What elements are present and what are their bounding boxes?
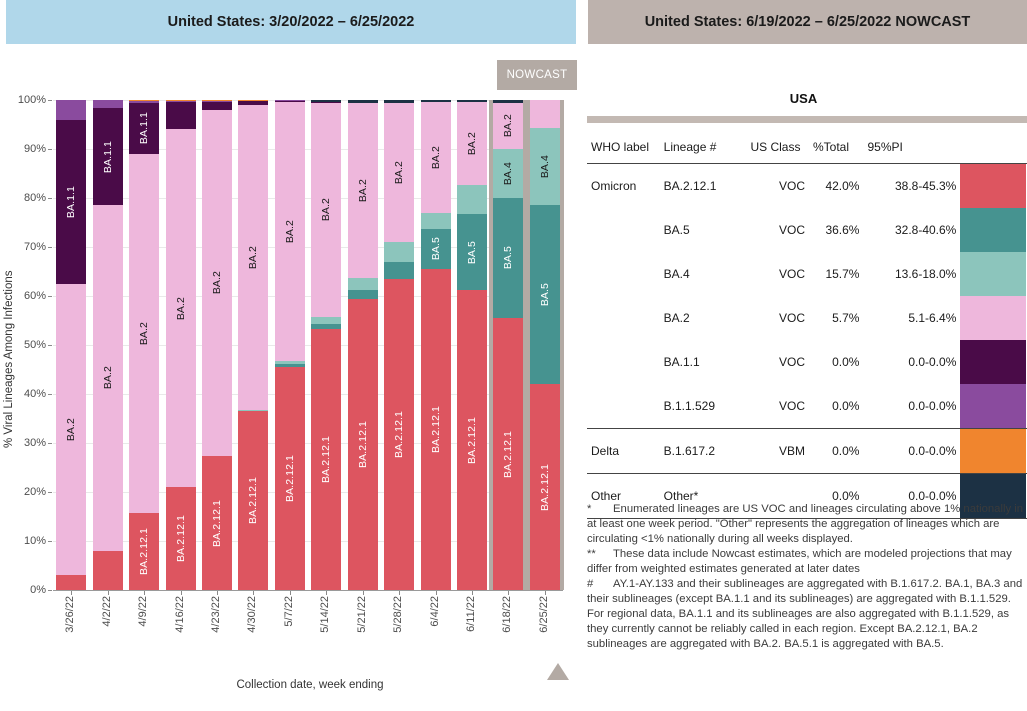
y-axis-tick-mark xyxy=(48,590,52,591)
bar-segment[interactable] xyxy=(311,317,341,324)
bar-segment[interactable]: BA.2.12.1 xyxy=(275,367,305,590)
cell-percent-total: 15.7% xyxy=(809,252,863,296)
bar-segment[interactable]: BA.2 xyxy=(93,205,123,550)
y-axis-tick-mark xyxy=(48,394,52,395)
stacked-bar-chart: % Viral Lineages Among Infections NOWCAS… xyxy=(0,44,578,711)
bar-segment[interactable] xyxy=(384,242,414,263)
footnote-text: Enumerated lineages are US VOC and linea… xyxy=(587,503,1023,545)
bar-segment[interactable] xyxy=(238,101,268,105)
cell-us-class: VOC xyxy=(746,164,809,209)
bar-segment[interactable]: BA.2 xyxy=(56,284,86,576)
bar-segment[interactable] xyxy=(93,100,123,108)
bar-segment[interactable] xyxy=(202,100,232,101)
x-axis-tick: 4/2/22 xyxy=(101,596,113,627)
y-axis-tick: 40% xyxy=(24,388,46,400)
bar-segment[interactable] xyxy=(348,100,378,103)
bar-segment[interactable] xyxy=(457,100,487,102)
bar-segment[interactable] xyxy=(166,101,196,102)
bar-segment[interactable]: BA.2 xyxy=(129,154,159,513)
column-header-pi: 95%PI xyxy=(863,134,960,164)
y-axis-tick: 90% xyxy=(24,143,46,155)
bar-segment-label: BA.5 xyxy=(502,246,514,269)
y-axis-tick-mark xyxy=(48,443,52,444)
bar-segment-label: BA.2 xyxy=(102,366,114,389)
x-axis-tick-mark xyxy=(326,591,327,595)
stacked-bar[interactable]: BA.2.12.1BA.5BA.2 xyxy=(457,100,487,590)
bar-segment[interactable]: BA.2.12.1 xyxy=(530,384,560,590)
bar-segment[interactable]: BA.5 xyxy=(457,214,487,290)
cell-us-class: VOC xyxy=(746,340,809,384)
stacked-bar[interactable]: BA.2.12.1BA.5BA.2 xyxy=(421,100,451,590)
bar-segment[interactable] xyxy=(384,262,414,279)
cell-lineage: BA.1.1 xyxy=(660,340,747,384)
x-axis-tick-mark xyxy=(508,591,509,595)
table-row[interactable]: BA.1.1VOC0.0%0.0-0.0% xyxy=(587,340,1027,384)
bar-segment[interactable] xyxy=(129,101,159,103)
x-axis-tick: 5/7/22 xyxy=(283,596,295,627)
x-axis-tick: 6/11/22 xyxy=(465,596,477,632)
cell-95pi: 38.8-45.3% xyxy=(863,164,960,209)
x-axis-tick-mark xyxy=(253,591,254,595)
x-axis-tick-mark xyxy=(144,591,145,595)
bar-segment[interactable] xyxy=(56,100,86,120)
right-panel-header: United States: 6/19/2022 – 6/25/2022 NOW… xyxy=(588,0,1027,44)
bar-segment[interactable]: BA.2 xyxy=(457,102,487,184)
x-axis-label: Collection date, week ending xyxy=(140,679,480,691)
bar-segment[interactable]: BA.2 xyxy=(238,105,268,410)
bar-segment[interactable]: BA.2 xyxy=(421,102,451,213)
cell-who-label xyxy=(587,340,660,384)
cell-percent-total: 42.0% xyxy=(809,164,863,209)
y-axis-tick: 10% xyxy=(24,535,46,547)
bar-segment-label: BA.2 xyxy=(65,418,77,441)
bar-segment[interactable] xyxy=(421,100,451,102)
stacked-bar[interactable]: BA.2.12.1BA.2BA.1.1 xyxy=(129,100,159,590)
bar-segment[interactable]: BA.5 xyxy=(530,205,560,384)
column-header-usclass: US Class xyxy=(746,134,809,164)
nowcast-table: WHO label Lineage # US Class %Total 95%P… xyxy=(587,134,1027,519)
bar-segment-label: BA.2.12.1 xyxy=(430,406,442,453)
y-axis-tick-mark xyxy=(48,541,52,542)
bar-segment-label: BA.2 xyxy=(502,114,514,137)
bar-segment-label: BA.4 xyxy=(539,155,551,178)
bar-segment-label: BA.2.12.1 xyxy=(138,528,150,575)
stacked-bar[interactable]: BA.2.12.1BA.2 xyxy=(166,100,196,590)
stacked-bar[interactable]: BA.2.12.1BA.2 xyxy=(384,100,414,590)
stacked-bar[interactable]: BA.2.12.1BA.2 xyxy=(311,100,341,590)
nowcast-tag: NOWCAST xyxy=(497,60,577,90)
x-axis-line xyxy=(53,590,563,591)
bar-segment[interactable]: BA.2.12.1 xyxy=(457,290,487,590)
nowcast-table-panel: USA WHO label Lineage # US Class %Total … xyxy=(580,44,1027,711)
bar-segment[interactable] xyxy=(166,102,196,129)
footnote: #AY.1-AY.133 and their sublineages are a… xyxy=(587,577,1027,652)
bar-segment[interactable] xyxy=(129,100,159,101)
bar-segment[interactable] xyxy=(238,410,268,411)
cell-95pi: 13.6-18.0% xyxy=(863,252,960,296)
x-axis-tick-mark xyxy=(399,591,400,595)
table-row[interactable]: OmicronBA.2.12.1VOC42.0%38.8-45.3% xyxy=(587,164,1027,209)
stacked-bar[interactable]: BA.2.12.1BA.2 xyxy=(202,100,232,590)
bar-segment[interactable]: BA.2 xyxy=(275,102,305,361)
bar-segment[interactable]: BA.2.12.1 xyxy=(166,487,196,590)
x-axis-tick-mark xyxy=(363,591,364,595)
bar-segment[interactable]: BA.2 xyxy=(493,103,523,149)
y-axis-tick: 50% xyxy=(24,339,46,351)
table-row[interactable]: BA.5VOC36.6%32.8-40.6% xyxy=(587,208,1027,252)
footnote-text: These data include Nowcast estimates, wh… xyxy=(587,548,1012,575)
bar-segment[interactable] xyxy=(493,100,523,103)
bar-segment-label: BA.2 xyxy=(284,220,296,243)
cell-us-class: VOC xyxy=(746,208,809,252)
stacked-bar[interactable]: BA.2.12.1BA.2 xyxy=(238,100,268,590)
bar-segment-label: BA.1.1 xyxy=(65,186,77,218)
cell-color-swatch xyxy=(960,384,1027,429)
left-panel-title: United States: 3/20/2022 – 6/25/2022 xyxy=(168,14,415,30)
bar-segment-label: BA.2.12.1 xyxy=(539,464,551,511)
column-header-who: WHO label xyxy=(587,134,660,164)
bar-segment[interactable] xyxy=(348,278,378,289)
cell-color-swatch xyxy=(960,340,1027,384)
cell-who-label xyxy=(587,296,660,340)
bar-segment-label: BA.5 xyxy=(539,283,551,306)
bar-segment-label: BA.2 xyxy=(466,132,478,155)
cell-percent-total: 0.0% xyxy=(809,429,863,474)
x-axis-tick: 4/16/22 xyxy=(174,596,186,633)
cell-lineage: B.1.1.529 xyxy=(660,384,747,429)
lineage-color-swatch xyxy=(960,208,1026,252)
y-axis-tick-mark xyxy=(48,100,52,101)
table-row[interactable]: BA.2VOC5.7%5.1-6.4% xyxy=(587,296,1027,340)
bar-segment[interactable]: BA.2 xyxy=(166,129,196,487)
bar-segment[interactable]: BA.2.12.1 xyxy=(493,318,523,590)
bar-segment-label: BA.5 xyxy=(430,237,442,260)
bar-segment-label: BA.2.12.1 xyxy=(393,411,405,458)
lineage-color-swatch xyxy=(960,384,1026,428)
x-axis-tick: 4/30/22 xyxy=(246,596,258,633)
cell-lineage: BA.2.12.1 xyxy=(660,164,747,209)
x-axis-tick: 5/28/22 xyxy=(392,596,404,633)
bar-segment[interactable]: BA.2.12.1 xyxy=(238,411,268,590)
bar-segment[interactable]: BA.2 xyxy=(348,103,378,278)
bar-segment-label: BA.2 xyxy=(211,271,223,294)
bar-segment-label: BA.2 xyxy=(357,179,369,202)
bar-segment-label: BA.2 xyxy=(175,297,187,320)
bar-segment[interactable]: BA.2.12.1 xyxy=(348,299,378,590)
bar-segment[interactable]: BA.1.1 xyxy=(56,120,86,284)
table-title-rule xyxy=(587,116,1027,123)
cell-percent-total: 0.0% xyxy=(809,384,863,429)
bar-segment[interactable] xyxy=(384,100,414,103)
cell-lineage: B.1.617.2 xyxy=(660,429,747,474)
stacked-bar[interactable]: BA.2.12.1BA.2 xyxy=(348,100,378,590)
bar-segment-label: BA.2.12.1 xyxy=(357,421,369,468)
cell-lineage: BA.5 xyxy=(660,208,747,252)
cell-95pi: 0.0-0.0% xyxy=(863,340,960,384)
cell-us-class: VBM xyxy=(746,429,809,474)
x-axis-tick-mark xyxy=(181,591,182,595)
cell-color-swatch xyxy=(960,208,1027,252)
y-axis-tick: 80% xyxy=(24,192,46,204)
variant-proportions-page: United States: 3/20/2022 – 6/25/2022 Uni… xyxy=(0,0,1027,711)
stacked-bar[interactable]: BA.2BA.1.1 xyxy=(93,100,123,590)
bar-segment-label: BA.4 xyxy=(502,162,514,185)
cell-who-label xyxy=(587,208,660,252)
bar-segment[interactable] xyxy=(421,213,451,230)
plot-area: 0%10%20%30%40%50%60%70%80%90%100%BA.2BA.… xyxy=(53,100,563,590)
cell-lineage: BA.2 xyxy=(660,296,747,340)
x-axis-tick: 4/23/22 xyxy=(210,596,222,633)
bar-segment-label: BA.2.12.1 xyxy=(320,436,332,483)
bar-segment[interactable] xyxy=(348,290,378,300)
x-axis-tick: 6/4/22 xyxy=(429,596,441,627)
cell-us-class: VOC xyxy=(746,252,809,296)
table-row[interactable]: B.1.1.529VOC0.0%0.0-0.0% xyxy=(587,384,1027,429)
bar-segment[interactable] xyxy=(311,100,341,102)
cell-color-swatch xyxy=(960,296,1027,340)
footnote-text: AY.1-AY.133 and their sublineages are ag… xyxy=(587,578,1022,650)
table-title: USA xyxy=(580,91,1027,106)
y-axis-tick-mark xyxy=(48,198,52,199)
y-axis-tick: 20% xyxy=(24,486,46,498)
stacked-bar[interactable]: BA.2BA.1.1 xyxy=(56,100,86,590)
stacked-bar[interactable]: BA.2.12.1BA.5BA.4 xyxy=(530,100,560,590)
stacked-bar[interactable]: BA.2.12.1BA.2 xyxy=(275,100,305,590)
y-axis-tick: 60% xyxy=(24,290,46,302)
bar-segment[interactable] xyxy=(275,361,305,364)
y-axis-tick: 100% xyxy=(18,94,46,106)
y-axis-label: % Viral Lineages Among Infections xyxy=(0,194,20,524)
footnote-marker: # xyxy=(587,577,613,592)
bar-segment-label: BA.5 xyxy=(466,241,478,264)
bar-segment[interactable] xyxy=(275,364,305,367)
cell-percent-total: 5.7% xyxy=(809,296,863,340)
y-axis-tick-mark xyxy=(48,492,52,493)
bar-segment[interactable] xyxy=(93,551,123,590)
cell-95pi: 5.1-6.4% xyxy=(863,296,960,340)
cell-color-swatch xyxy=(960,429,1027,474)
y-axis-tick-mark xyxy=(48,149,52,150)
x-axis-tick-mark xyxy=(436,591,437,595)
x-axis-tick-mark xyxy=(71,591,72,595)
bar-segment[interactable]: BA.2.12.1 xyxy=(202,456,232,590)
bar-segment-label: BA.1.1 xyxy=(138,112,150,144)
bar-segment[interactable] xyxy=(530,100,560,128)
y-axis-tick-mark xyxy=(48,296,52,297)
bar-segment[interactable] xyxy=(202,101,232,109)
cell-us-class: VOC xyxy=(746,296,809,340)
bar-segment[interactable]: BA.2 xyxy=(384,103,414,242)
cell-who-label xyxy=(587,252,660,296)
bar-segment[interactable]: BA.4 xyxy=(493,149,523,198)
bar-segment[interactable] xyxy=(275,100,305,101)
cell-color-swatch xyxy=(960,252,1027,296)
bar-segment[interactable]: BA.2.12.1 xyxy=(311,329,341,590)
bar-segment[interactable]: BA.2 xyxy=(311,103,341,317)
y-axis-tick: 30% xyxy=(24,437,46,449)
x-axis-tick: 5/21/22 xyxy=(356,596,368,633)
footnote: **These data include Nowcast estimates, … xyxy=(587,547,1027,577)
y-axis-tick: 70% xyxy=(24,241,46,253)
x-axis-tick-mark xyxy=(545,591,546,595)
cell-95pi: 32.8-40.6% xyxy=(863,208,960,252)
bar-segment-label: BA.2.12.1 xyxy=(466,417,478,464)
bar-segment[interactable] xyxy=(166,100,196,101)
x-axis-tick-mark xyxy=(108,591,109,595)
bar-segment[interactable]: BA.2.12.1 xyxy=(421,269,451,590)
bar-segment[interactable]: BA.5 xyxy=(421,229,451,268)
footnote-marker: ** xyxy=(587,547,613,562)
x-axis-tick: 4/9/22 xyxy=(137,596,149,627)
bar-segment-label: BA.2.12.1 xyxy=(284,455,296,502)
y-axis-tick: 0% xyxy=(30,584,46,596)
table-body: OmicronBA.2.12.1VOC42.0%38.8-45.3%BA.5VO… xyxy=(587,164,1027,519)
x-axis-tick-mark xyxy=(472,591,473,595)
y-axis-tick-mark xyxy=(48,247,52,248)
bar-segment-label: BA.2 xyxy=(247,246,259,269)
bar-segment[interactable] xyxy=(457,185,487,214)
bar-segment-label: BA.2.12.1 xyxy=(502,431,514,478)
column-header-total: %Total xyxy=(809,134,863,164)
lineage-color-swatch xyxy=(960,429,1026,473)
cell-who-label: Delta xyxy=(587,429,660,474)
lineage-color-swatch xyxy=(960,296,1026,340)
bar-segment[interactable]: BA.2.12.1 xyxy=(384,279,414,590)
bar-segment[interactable]: BA.4 xyxy=(530,128,560,205)
bar-segment-label: BA.2 xyxy=(430,146,442,169)
stacked-bar[interactable]: BA.2.12.1BA.5BA.4BA.2 xyxy=(493,100,523,590)
cell-color-swatch xyxy=(960,164,1027,209)
cell-lineage: BA.4 xyxy=(660,252,747,296)
column-header-swatch xyxy=(960,134,1027,164)
x-axis-tick: 6/25/22 xyxy=(538,596,550,633)
bar-segment-label: BA.2 xyxy=(320,198,332,221)
lineage-color-swatch xyxy=(960,340,1026,384)
x-axis-tick: 3/26/22 xyxy=(64,596,76,633)
bar-segment[interactable]: BA.1.1 xyxy=(129,103,159,154)
bar-segment-label: BA.2.12.1 xyxy=(175,515,187,562)
x-axis-tick-mark xyxy=(290,591,291,595)
right-panel-title: United States: 6/19/2022 – 6/25/2022 NOW… xyxy=(645,14,971,30)
bar-segment[interactable] xyxy=(56,575,86,590)
bar-segment[interactable]: BA.2 xyxy=(202,110,232,456)
footnotes: *Enumerated lineages are US VOC and line… xyxy=(587,502,1027,652)
bar-segment-label: BA.2 xyxy=(138,322,150,345)
footnote-marker: * xyxy=(587,502,613,517)
left-panel-header: United States: 3/20/2022 – 6/25/2022 xyxy=(6,0,576,44)
bar-segment-label: BA.2.12.1 xyxy=(247,477,259,524)
footnote: *Enumerated lineages are US VOC and line… xyxy=(587,502,1027,547)
lineage-color-swatch xyxy=(960,252,1026,296)
bar-segment-label: BA.2.12.1 xyxy=(211,500,223,547)
column-header-lineage: Lineage # xyxy=(660,134,747,164)
cell-percent-total: 0.0% xyxy=(809,340,863,384)
bar-segment[interactable]: BA.2.12.1 xyxy=(129,513,159,590)
cell-95pi: 0.0-0.0% xyxy=(863,429,960,474)
bar-segment[interactable] xyxy=(311,324,341,329)
cell-who-label: Omicron xyxy=(587,164,660,209)
cell-percent-total: 36.6% xyxy=(809,208,863,252)
table-header-row: WHO label Lineage # US Class %Total 95%P… xyxy=(587,134,1027,164)
table-row[interactable]: BA.4VOC15.7%13.6-18.0% xyxy=(587,252,1027,296)
cell-us-class: VOC xyxy=(746,384,809,429)
x-axis-tick-mark xyxy=(217,591,218,595)
nowcast-arrow-icon xyxy=(547,663,569,680)
bar-segment-label: BA.2 xyxy=(393,161,405,184)
bar-segment[interactable]: BA.5 xyxy=(493,198,523,318)
y-axis-tick-mark xyxy=(48,345,52,346)
cell-95pi: 0.0-0.0% xyxy=(863,384,960,429)
x-axis-tick: 5/14/22 xyxy=(319,596,331,633)
bar-segment-label: BA.1.1 xyxy=(102,141,114,173)
lineage-color-swatch xyxy=(960,164,1026,208)
table-row[interactable]: DeltaB.1.617.2VBM0.0%0.0-0.0% xyxy=(587,429,1027,474)
cell-who-label xyxy=(587,384,660,429)
x-axis-tick: 6/18/22 xyxy=(501,596,513,633)
bar-segment[interactable]: BA.1.1 xyxy=(93,108,123,205)
